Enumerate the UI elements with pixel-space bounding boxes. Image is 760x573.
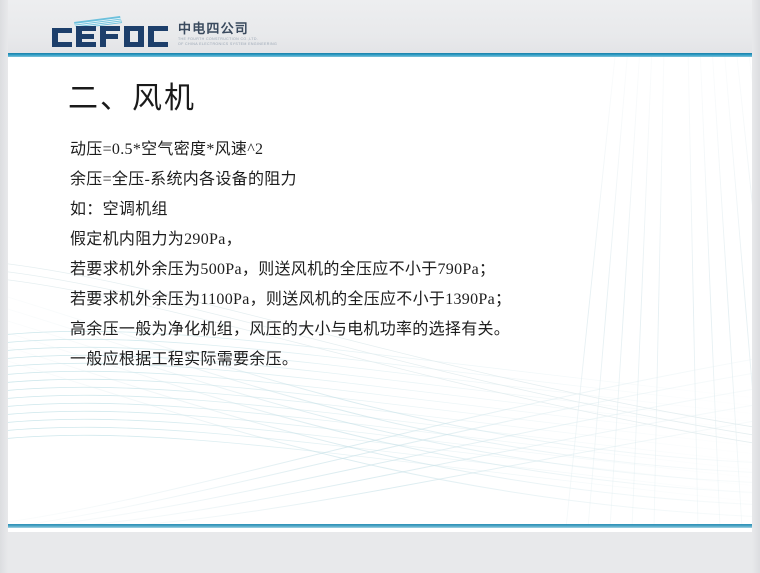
slide-title: 二、风机 [68,73,196,117]
body-line: 如：空调机组 [70,195,730,225]
header-divider-rule [6,53,754,57]
slide-canvas: 中电四公司 THE FOURTH CONSTRUCTION CO.,LTD. O… [6,0,754,532]
slide-body: 动压=0.5*空气密度*风速^2 余压=全压-系统内各设备的阻力 如：空调机组 … [70,135,730,375]
body-line: 余压=全压-系统内各设备的阻力 [70,165,730,195]
body-line: 一般应根据工程实际需要余压。 [70,345,730,375]
body-line: 若要求机外余压为1100Pa，则送风机的全压应不小于1390Pa； [70,285,730,315]
body-line: 高余压一般为净化机组，风压的大小与电机功率的选择有关。 [70,315,730,345]
logo-company-cn: 中电四公司 [178,21,249,36]
logo-company-en-line1: THE FOURTH CONSTRUCTION CO.,LTD. [178,37,258,41]
cefoc-logo: 中电四公司 THE FOURTH CONSTRUCTION CO.,LTD. O… [50,12,280,48]
body-line: 动压=0.5*空气密度*风速^2 [70,135,730,165]
body-line: 假定机内阻力为290Pa， [70,225,730,255]
slide-content: 二、风机 动压=0.5*空气密度*风速^2 余压=全压-系统内各设备的阻力 如：… [6,57,754,528]
logo-wordmark [52,26,168,47]
logo-company-en-line2: OF CHINA ELECTRONICS SYSTEM ENGINEERING [178,42,277,46]
slide-bottom-margin [6,528,754,532]
body-line: 若要求机外余压为500Pa，则送风机的全压应不小于790Pa； [70,255,730,285]
slide-viewer: 中电四公司 THE FOURTH CONSTRUCTION CO.,LTD. O… [0,0,760,573]
